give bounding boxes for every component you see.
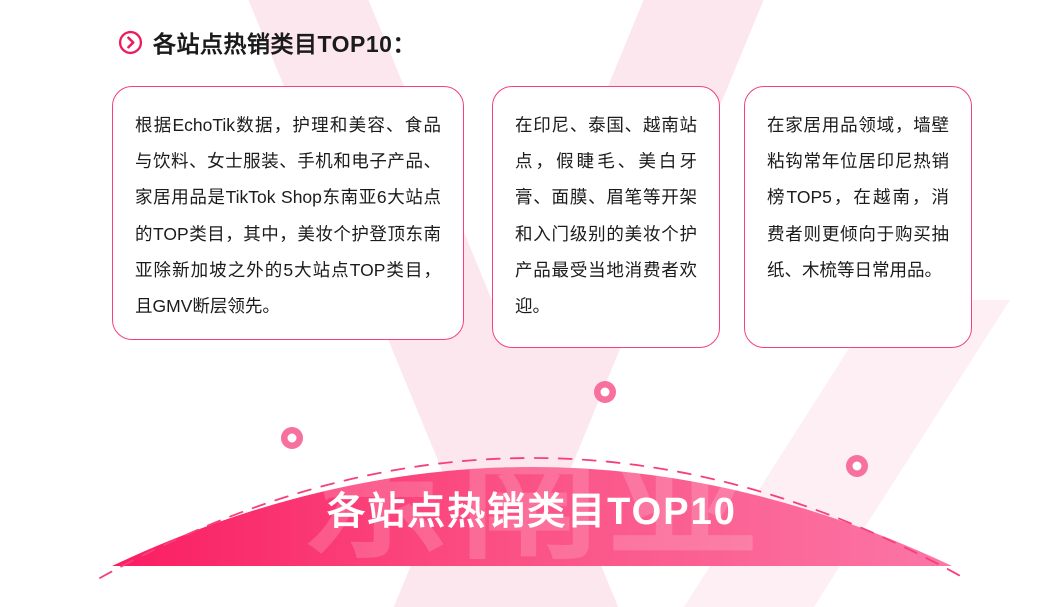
- info-card-2: 在印尼、泰国、越南站点，假睫毛、美白牙膏、面膜、眉笔等开架和入门级别的美妆个护产…: [492, 86, 720, 348]
- info-card-1-text: 根据EchoTik数据，护理和美容、食品与饮料、女士服装、手机和电子产品、家居用…: [135, 107, 441, 324]
- dashed-arc-guide: [100, 458, 964, 578]
- chevron-right-circle-icon: [118, 30, 143, 55]
- section-heading-text: 各站点热销类目TOP10：: [153, 25, 416, 59]
- connector-dot-1: [281, 427, 303, 449]
- info-card-3-text: 在家居用品领域，墙壁粘钩常年位居印尼热销榜TOP5，在越南，消费者则更倾向于购买…: [767, 107, 949, 288]
- arc-watermark-text: 东南亚: [301, 412, 763, 577]
- info-card-2-text: 在印尼、泰国、越南站点，假睫毛、美白牙膏、面膜、眉笔等开架和入门级别的美妆个护产…: [515, 107, 697, 324]
- section-heading: 各站点热销类目TOP10：: [118, 22, 416, 62]
- connector-dot-2: [594, 381, 616, 403]
- arc-shape: [112, 467, 952, 566]
- info-card-3: 在家居用品领域，墙壁粘钩常年位居印尼热销榜TOP5，在越南，消费者则更倾向于购买…: [744, 86, 972, 348]
- banner-title: 各站点热销类目TOP10: [0, 480, 1064, 535]
- connector-dot-3: [846, 455, 868, 477]
- info-card-1: 根据EchoTik数据，护理和美容、食品与饮料、女士服装、手机和电子产品、家居用…: [112, 86, 464, 340]
- infographic-slide: 东南亚 各站点热销类目TOP10: [0, 0, 1064, 607]
